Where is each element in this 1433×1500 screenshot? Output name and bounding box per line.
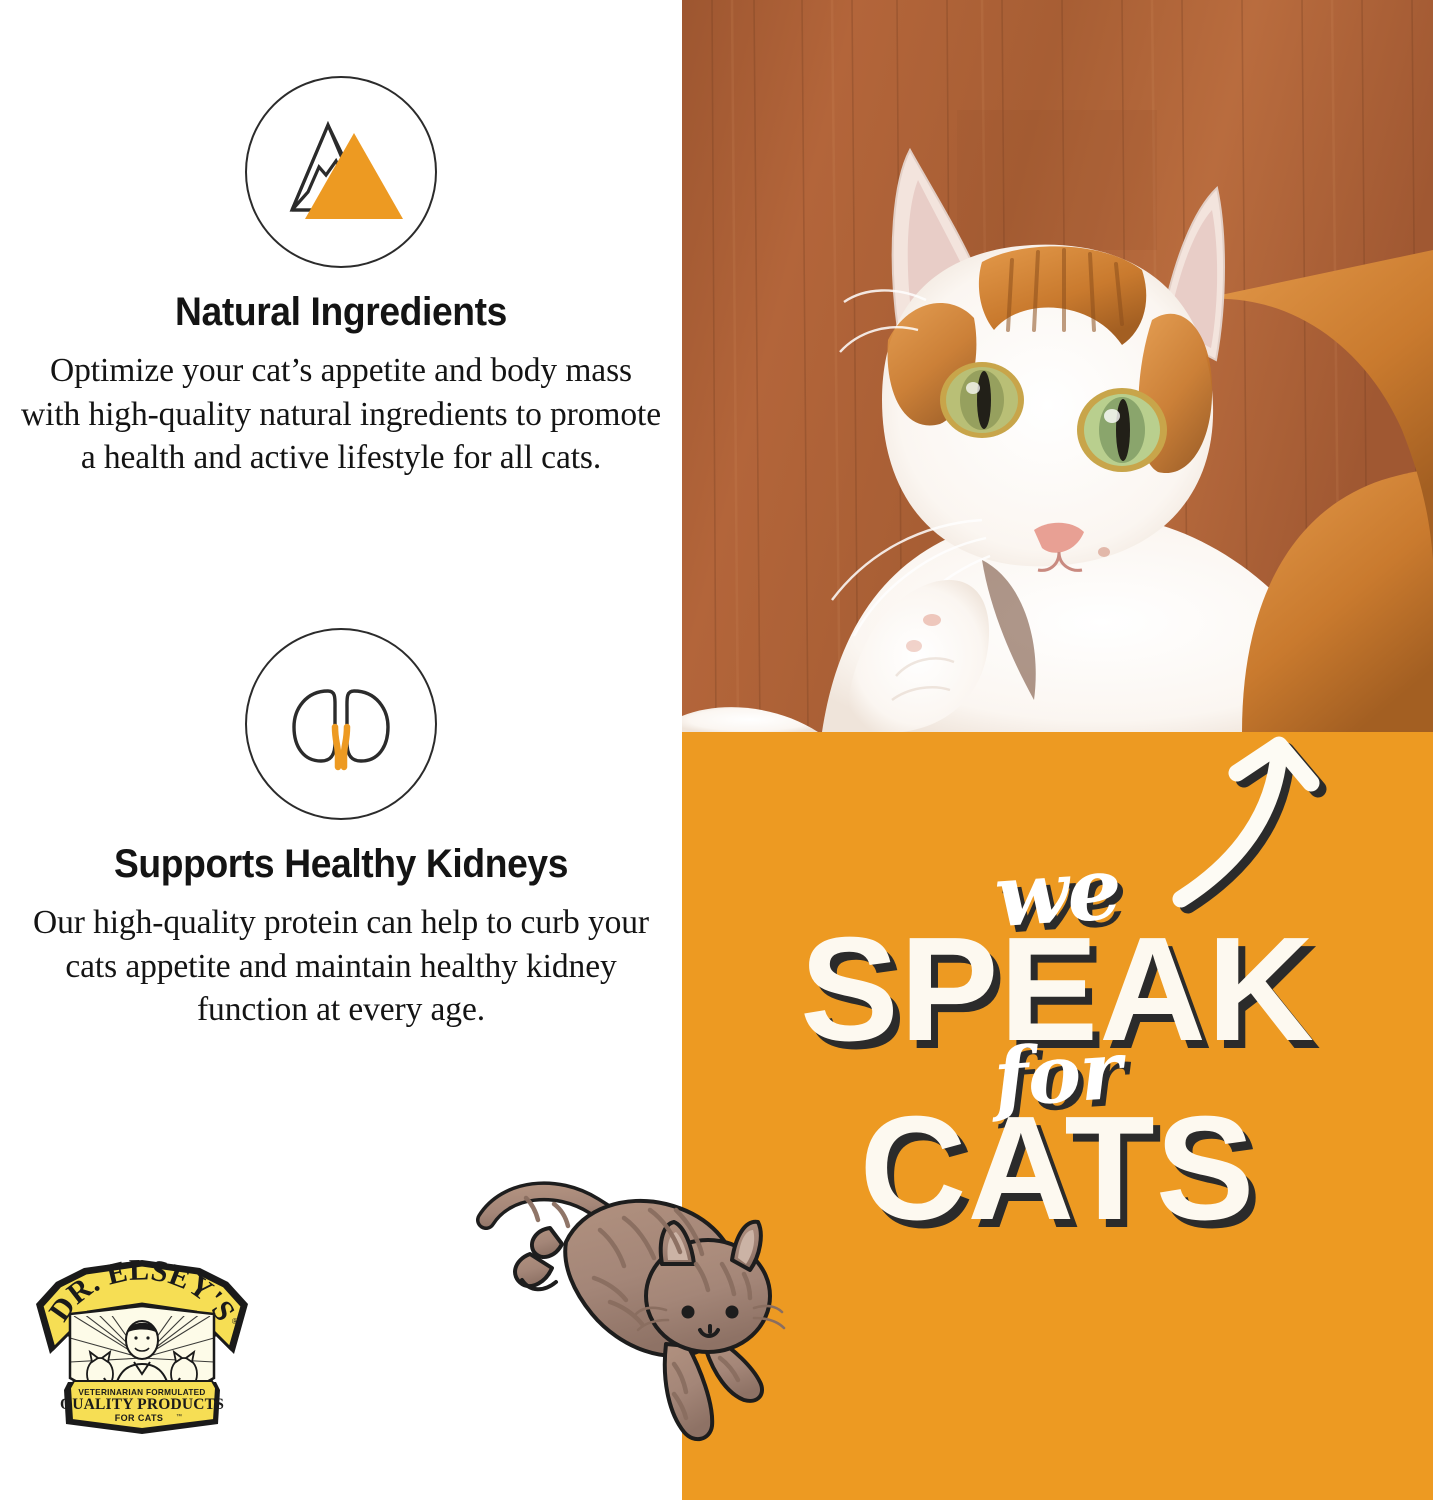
logo-banner-line3: FOR CATS — [115, 1413, 164, 1423]
mountain-icon — [245, 76, 437, 268]
logo-trademark: ™ — [176, 1413, 182, 1420]
dr-elseys-logo-svg: DR. ELSEY'S ® VETERINARIAN FORMULATED QU… — [26, 1258, 258, 1444]
feature-body: Our high-quality protein can help to cur… — [21, 901, 661, 1032]
feature-title: Natural Ingredients — [24, 290, 658, 335]
cat-photo — [682, 0, 1433, 732]
kidneys-icon — [245, 628, 437, 820]
cat-photo-svg — [682, 0, 1433, 732]
feature-title: Supports Healthy Kidneys — [24, 842, 658, 887]
dr-elseys-logo: DR. ELSEY'S ® VETERINARIAN FORMULATED QU… — [26, 1258, 258, 1444]
promo-infographic: Natural Ingredients Optimize your cat’s … — [0, 0, 1433, 1500]
mountain-icon-svg — [266, 97, 416, 247]
feature-supports-healthy-kidneys: Supports Healthy Kidneys Our high-qualit… — [0, 628, 682, 1032]
feature-natural-ingredients: Natural Ingredients Optimize your cat’s … — [0, 76, 682, 480]
feature-body: Optimize your cat’s appetite and body ma… — [21, 349, 661, 480]
leaping-tabby-cat-illustration — [470, 1168, 830, 1458]
logo-banner-line2: QUALITY PRODUCTS — [60, 1396, 224, 1413]
logo-registered-mark: ® — [232, 1317, 238, 1326]
kidneys-icon-svg — [266, 649, 416, 799]
leaping-cat-svg — [470, 1168, 830, 1458]
